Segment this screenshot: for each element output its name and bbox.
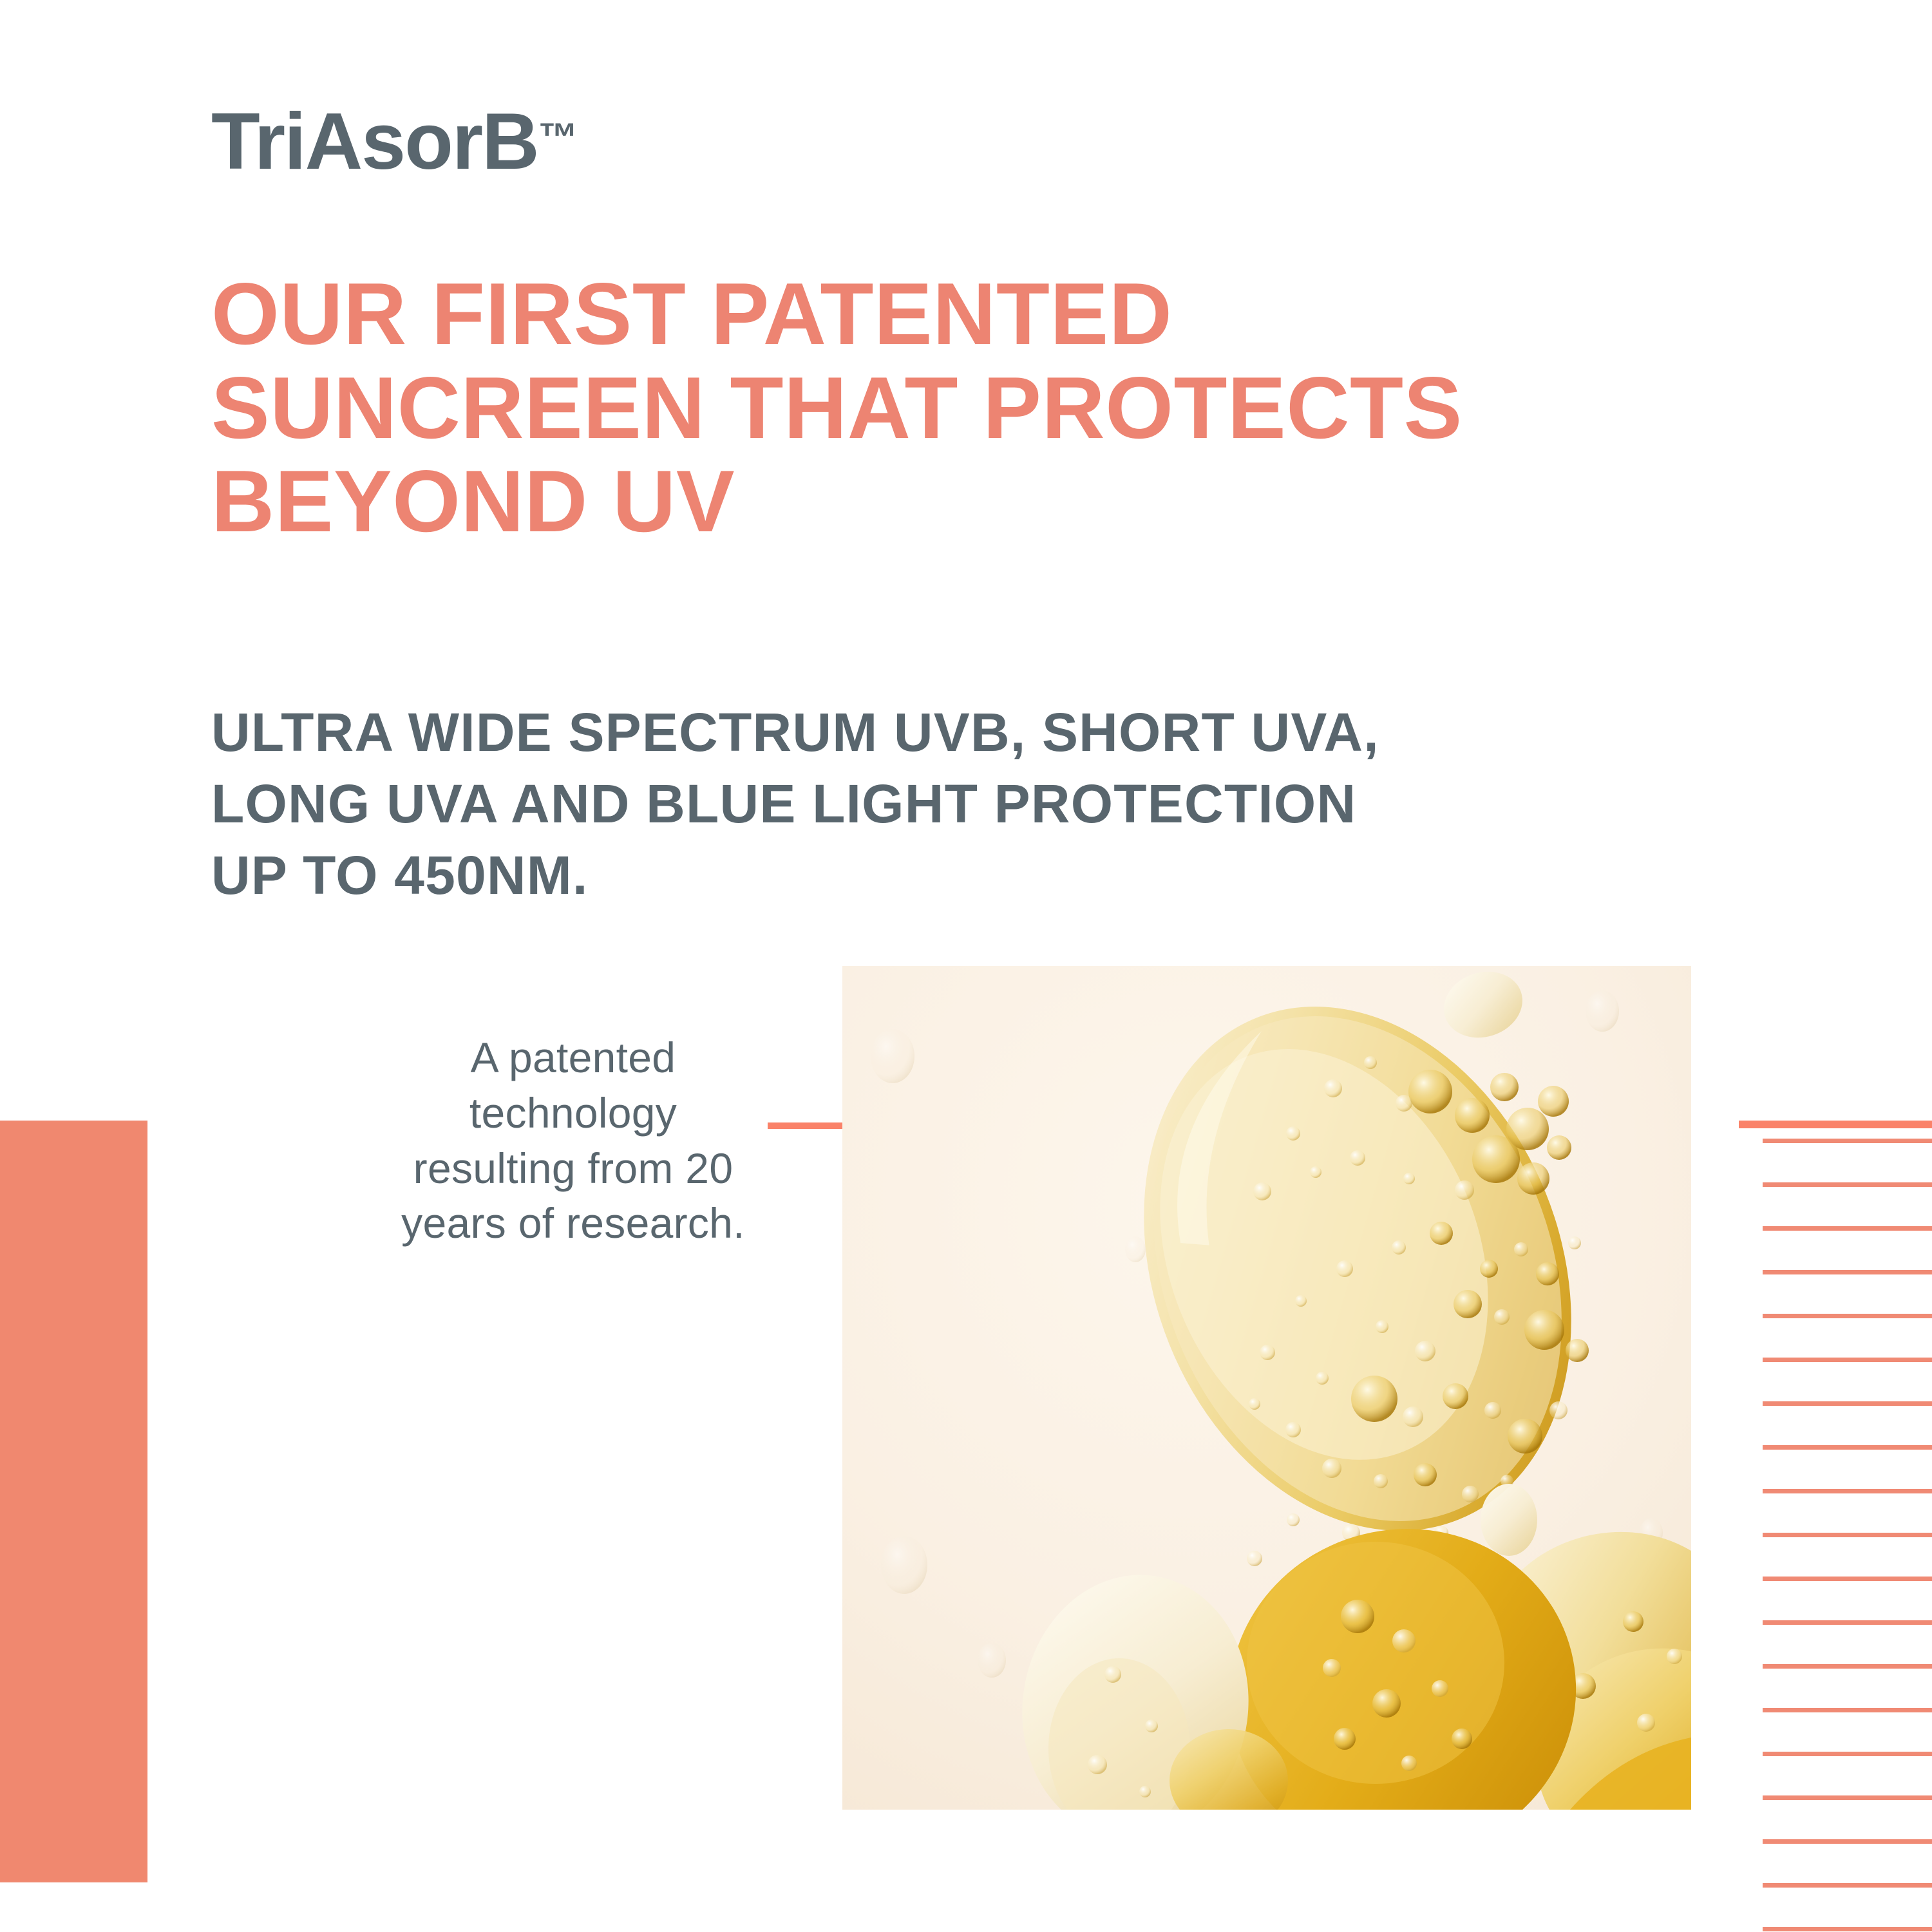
rule-thin [1763, 1883, 1932, 1888]
rule-thin [1763, 1752, 1932, 1756]
rule-thin [1763, 1664, 1932, 1669]
rule-thin [1763, 1927, 1932, 1931]
headline-line-3: BEYOND UV [211, 455, 1789, 549]
rule-thin [1763, 1314, 1932, 1318]
rule-thin [1763, 1795, 1932, 1800]
photo-caption: A patented technology resulting from 20 … [386, 1030, 760, 1251]
oil-droplets-illustration [842, 966, 1691, 1810]
rule-thin [1763, 1270, 1932, 1274]
rule-thin [1763, 1708, 1932, 1712]
subheadline-line-1: ULTRA WIDE SPECTRUM UVB, SHORT UVA, [211, 697, 1692, 768]
rule-thin [1763, 1139, 1932, 1143]
subheadline-line-3: UP TO 450NM. [211, 840, 1692, 911]
headline-line-1: OUR FIRST PATENTED [211, 267, 1789, 361]
rule-thin [1763, 1445, 1932, 1450]
brand-name: TriAsorB [211, 97, 538, 186]
rule-thin [1763, 1577, 1932, 1581]
headline-line-2: SUNCREEN THAT PROTECTS [211, 361, 1789, 455]
rule-thin [1763, 1839, 1932, 1844]
rule-thin [1763, 1620, 1932, 1625]
headline: OUR FIRST PATENTED SUNCREEN THAT PROTECT… [211, 267, 1789, 549]
coral-accent-block [0, 1121, 147, 1882]
rule-top-thick [1739, 1121, 1932, 1128]
rule-thin [1763, 1226, 1932, 1231]
rule-thin [1763, 1182, 1932, 1187]
rule-thin [1763, 1401, 1932, 1406]
poster-canvas: TriAsorB™ OUR FIRST PATENTED SUNCREEN TH… [0, 0, 1932, 1932]
subheadline-line-2: LONG UVA AND BLUE LIGHT PROTECTION [211, 768, 1692, 840]
trademark-symbol: ™ [538, 115, 578, 160]
decorative-rule-stack [1739, 1121, 1932, 1932]
product-photo [842, 966, 1691, 1810]
subheadline: ULTRA WIDE SPECTRUM UVB, SHORT UVA, LONG… [211, 697, 1692, 911]
rule-thin [1763, 1489, 1932, 1493]
brand-title: TriAsorB™ [211, 102, 578, 182]
rule-thin [1763, 1358, 1932, 1362]
rule-thin [1763, 1533, 1932, 1537]
caption-connector-line [768, 1122, 844, 1129]
